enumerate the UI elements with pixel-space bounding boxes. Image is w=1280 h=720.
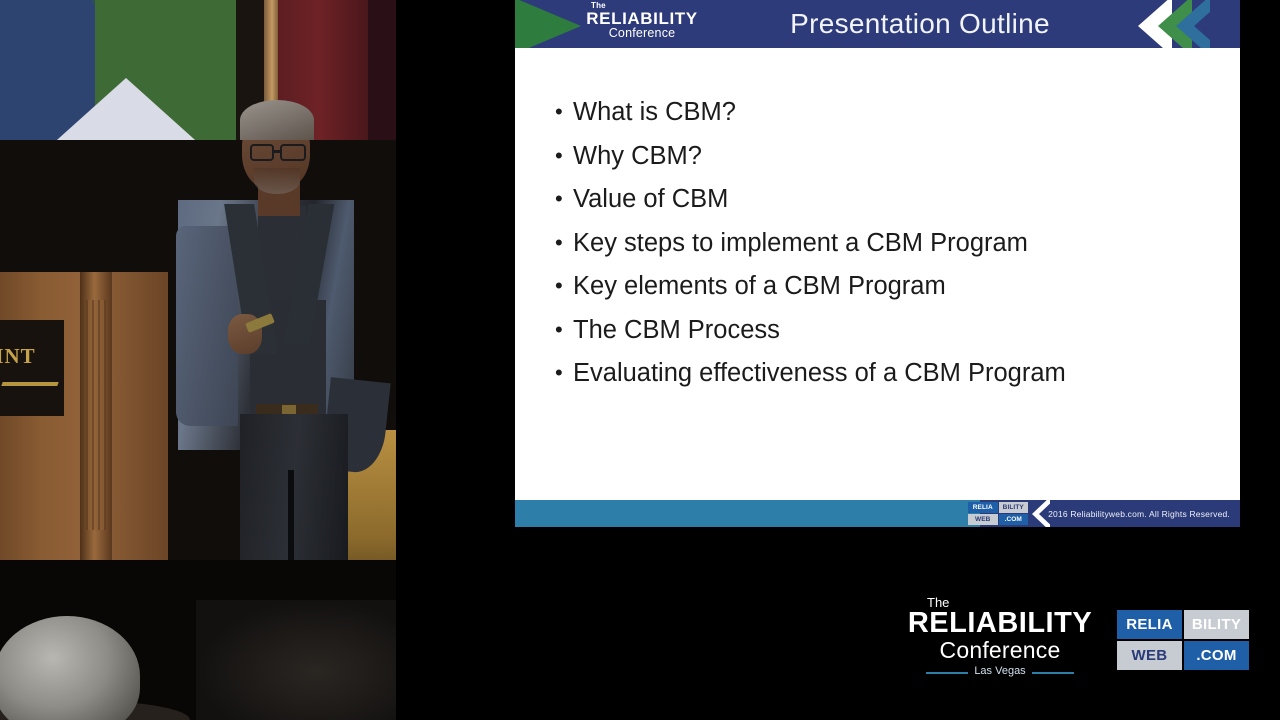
green-arrow-icon [515,0,581,48]
podium-sign-text: OINT [0,344,64,370]
list-item-label: Evaluating effectiveness of a CBM Progra… [573,361,1215,387]
list-item: • Key elements of a CBM Program [555,274,1215,300]
outline-bullet-list: • What is CBM? • Why CBM? • Value of CBM… [555,100,1215,405]
brand-logo-bility: BILITY [1184,610,1249,639]
bullet-marker-icon: • [555,274,573,297]
conference-logo-header: The RELIABILITY Conference Las Vegas [577,2,707,46]
brand-conference-text: Conference [905,639,1095,662]
list-item: • What is CBM? [555,100,1215,126]
list-item: • Why CBM? [555,144,1215,170]
brand-lockup: The RELIABILITY Conference Las Vegas REL… [905,596,1245,682]
footer-logo-bility: BILITY [999,502,1029,513]
list-item-label: What is CBM? [573,100,1215,126]
brand-logo-web: WEB [1117,641,1182,670]
screen-capture: OINT [0,0,1280,720]
backdrop-white-triangle [48,78,204,148]
glasses-lens-right [280,144,306,161]
brand-location-text: Las Vegas [974,666,1025,677]
footer-logo-com: .COM [999,514,1029,525]
podium-grooves [86,300,106,530]
list-item: • Evaluating effectiveness of a CBM Prog… [555,361,1215,387]
brand-reliability-text: RELIABILITY [905,609,1095,639]
bullet-marker-icon: • [555,144,573,167]
brand-logo-com: .COM [1184,641,1249,670]
glasses-icon [250,144,274,161]
logo-conference-text: Conference [577,27,707,40]
conference-logo-large: The RELIABILITY Conference Las Vegas [905,596,1095,679]
list-item-label: Key elements of a CBM Program [573,274,1215,300]
audience-blur [196,600,396,720]
list-item: • The CBM Process [555,318,1215,344]
chevron-left-navy-icon [1194,0,1228,48]
list-item-label: Why CBM? [573,144,1215,170]
list-item-label: Value of CBM [573,187,1215,213]
copyright-text: 2016 Reliabilityweb.com. All Rights Rese… [1048,500,1230,527]
list-item-label: The CBM Process [573,318,1215,344]
presentation-slide: The RELIABILITY Conference Las Vegas Pre… [515,0,1240,527]
stage-video-panel: OINT [0,0,396,720]
logo-reliability-text: RELIABILITY [577,10,707,27]
footer-logo-relia: RELIA [968,502,998,513]
bullet-marker-icon: • [555,231,573,254]
slide-title: Presentation Outline [710,0,1130,48]
reliabilityweb-logo-footer: RELIA BILITY WEB .COM [968,502,1028,525]
bullet-marker-icon: • [555,187,573,210]
podium-plaque-flourish [1,382,58,386]
list-item: • Value of CBM [555,187,1215,213]
glasses-bridge [273,150,281,153]
brand-logo-relia: RELIA [1117,610,1182,639]
slide-footer-band: RELIA BILITY WEB .COM 2016 Reliabilitywe… [515,500,1240,527]
bullet-marker-icon: • [555,361,573,384]
speaker-hair [240,100,314,140]
bullet-marker-icon: • [555,100,573,123]
bullet-marker-icon: • [555,318,573,341]
reliabilityweb-logo-large: RELIA BILITY WEB .COM [1117,610,1249,670]
slide-content-area: • What is CBM? • Why CBM? • Value of CBM… [515,48,1240,500]
footer-logo-web: WEB [968,514,998,525]
speaker-beard [254,168,300,194]
list-item: • Key steps to implement a CBM Program [555,231,1215,257]
slide-header-band: The RELIABILITY Conference Las Vegas Pre… [515,0,1240,48]
list-item-label: Key steps to implement a CBM Program [573,231,1215,257]
